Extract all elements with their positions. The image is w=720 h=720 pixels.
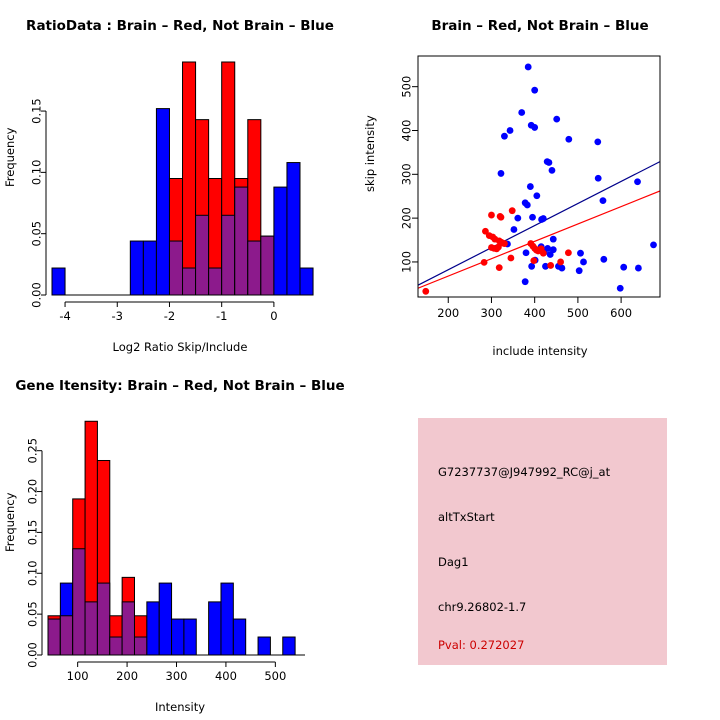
- y-tick-label: 0.05: [30, 221, 44, 247]
- scatter-point: [580, 259, 587, 266]
- y-tick-label: 0.00: [26, 642, 40, 668]
- x-tick-label: 500: [264, 669, 286, 683]
- scatter-point: [540, 250, 547, 257]
- scatter-point: [550, 236, 557, 243]
- histogram-bar-overlap: [73, 549, 85, 655]
- probe-id-text: G7237737@J947992_RC@j_at: [438, 465, 610, 479]
- scatter-point: [514, 215, 521, 222]
- histogram-bar-red: [183, 62, 196, 295]
- scatter-point: [559, 265, 566, 272]
- histogram-bar-blue: [221, 583, 233, 655]
- scatter-point: [511, 226, 518, 233]
- x-tick-label: 0: [270, 309, 277, 323]
- intensity-scatter-ylabel: skip intensity: [363, 172, 377, 192]
- regression-line: [418, 191, 660, 288]
- scatter-point: [507, 127, 514, 134]
- scatter-point: [527, 183, 534, 190]
- y-tick-label: 0.10: [30, 160, 44, 186]
- y-tick-label: 0.05: [26, 601, 40, 627]
- scatter-point: [595, 175, 602, 182]
- x-tick-label: 600: [610, 306, 632, 320]
- x-tick-label: 200: [437, 306, 459, 320]
- histogram-bar-blue: [147, 602, 159, 655]
- histogram-bar-overlap: [85, 602, 97, 655]
- scatter-point: [538, 216, 545, 223]
- y-tick-label: 100: [400, 251, 414, 273]
- histogram-bar-overlap: [122, 602, 134, 655]
- scatter-point: [617, 285, 624, 292]
- y-tick-label: 0.00: [30, 282, 44, 308]
- scatter-point: [498, 170, 505, 177]
- plot-frame: [418, 56, 660, 297]
- pval-text: Pval: 0.272027: [438, 638, 524, 652]
- scatter-point: [546, 159, 553, 166]
- scatter-point: [501, 133, 508, 140]
- scatter-point: [600, 197, 607, 204]
- scatter-point: [523, 249, 530, 256]
- scatter-point: [600, 256, 607, 263]
- scatter-point: [522, 278, 529, 285]
- scatter-point: [565, 136, 572, 143]
- scatter-point: [635, 265, 642, 272]
- histogram-bar-overlap: [48, 619, 60, 655]
- x-tick-label: 400: [215, 669, 237, 683]
- histogram-bar-overlap: [248, 241, 261, 295]
- histogram-bar-overlap: [196, 215, 209, 295]
- x-tick-label: -2: [164, 309, 175, 323]
- histogram-bar-blue: [130, 241, 143, 295]
- histogram-bar-blue: [287, 163, 300, 295]
- histogram-bar-overlap: [110, 637, 122, 655]
- info-box: G7237737@J947992_RC@j_at altTxStart Dag1…: [418, 418, 667, 665]
- scatter-point: [553, 116, 560, 123]
- ratio-histogram-ylabel: Frequency: [3, 167, 17, 187]
- gene-symbol-text: Dag1: [438, 555, 469, 569]
- scatter-point: [496, 264, 503, 271]
- scatter-point: [634, 178, 641, 185]
- scatter-point: [495, 244, 502, 251]
- y-tick-label: 500: [400, 76, 414, 98]
- intensity-scatter-panel: Brain – Red, Not Brain – Blue 1002003004…: [360, 0, 720, 360]
- scatter-point: [518, 109, 525, 116]
- gene-info-panel: G7237737@J947992_RC@j_at altTxStart Dag1…: [360, 360, 720, 720]
- intensity-scatter-xlabel: include intensity: [360, 344, 720, 358]
- histogram-bar-overlap: [261, 236, 274, 295]
- scatter-point: [524, 202, 531, 209]
- histogram-bar-overlap: [97, 583, 109, 655]
- scatter-point: [481, 259, 488, 266]
- scatter-point: [547, 251, 554, 258]
- histogram-bar-blue: [233, 619, 245, 655]
- scatter-point: [508, 255, 515, 262]
- scatter-point: [576, 267, 583, 274]
- scatter-point: [557, 259, 564, 266]
- locus-text: chr9.26802-1.7: [438, 600, 526, 614]
- histogram-bar-overlap: [235, 187, 248, 295]
- scatter-point: [530, 257, 537, 264]
- x-tick-label: -1: [216, 309, 227, 323]
- histogram-bar-blue: [159, 583, 171, 655]
- scatter-point: [549, 167, 556, 174]
- histogram-bar-overlap: [134, 637, 146, 655]
- gene-intensity-xlabel: Intensity: [0, 700, 360, 714]
- intensity-scatter-plot: 100200300400500200300400500600: [360, 0, 720, 360]
- y-tick-label: 0.25: [26, 438, 40, 464]
- scatter-point: [547, 262, 554, 269]
- x-tick-label: 400: [524, 306, 546, 320]
- histogram-bar-overlap: [209, 268, 222, 295]
- histogram-bar-overlap: [222, 215, 235, 295]
- scatter-point: [488, 212, 495, 219]
- y-tick-label: 200: [400, 207, 414, 229]
- scatter-point: [509, 207, 516, 214]
- histogram-bar-blue: [283, 637, 295, 655]
- scatter-point: [594, 138, 601, 145]
- gene-intensity-histogram-panel: Gene Itensity: Brain – Red, Not Brain – …: [0, 360, 360, 720]
- scatter-point: [533, 192, 540, 199]
- y-tick-label: 0.15: [30, 98, 44, 124]
- histogram-bar-blue: [52, 268, 65, 295]
- scatter-point: [565, 249, 572, 256]
- scatter-point: [650, 241, 657, 248]
- event-type-text: altTxStart: [438, 510, 495, 524]
- histogram-bar-blue: [143, 241, 156, 295]
- histogram-bar-blue: [156, 109, 169, 295]
- x-tick-label: 300: [480, 306, 502, 320]
- scatter-point: [529, 214, 536, 221]
- histogram-bar-blue: [209, 602, 221, 655]
- y-tick-label: 0.15: [26, 520, 40, 546]
- y-tick-label: 300: [400, 163, 414, 185]
- x-tick-label: 300: [166, 669, 188, 683]
- histogram-bar-overlap: [169, 241, 182, 295]
- histogram-bar-blue: [258, 637, 270, 655]
- x-tick-label: 500: [567, 306, 589, 320]
- scatter-point: [531, 124, 538, 131]
- ratio-histogram-panel: RatioData : Brain – Red, Not Brain – Blu…: [0, 0, 360, 360]
- ratio-histogram-xlabel: Log2 Ratio Skip/Include: [0, 340, 360, 354]
- y-tick-label: 0.10: [26, 560, 40, 586]
- gene-intensity-ylabel: Frequency: [3, 532, 17, 552]
- histogram-bar-blue: [184, 619, 196, 655]
- scatter-point: [525, 64, 532, 71]
- x-tick-label: 200: [116, 669, 138, 683]
- histogram-bar-blue: [300, 268, 313, 295]
- scatter-point: [422, 288, 429, 295]
- scatter-point: [498, 214, 505, 221]
- x-tick-label: -3: [112, 309, 123, 323]
- y-tick-label: 400: [400, 120, 414, 142]
- gene-intensity-histogram-plot: 0.000.050.100.150.200.25100200300400500: [0, 360, 360, 720]
- scatter-point: [501, 240, 508, 247]
- x-tick-label: 100: [67, 669, 89, 683]
- scatter-content: [418, 64, 660, 295]
- scatter-point: [620, 264, 627, 271]
- histogram-bar-blue: [172, 619, 184, 655]
- ratio-histogram-plot: 0.000.050.100.15-4-3-2-10: [0, 0, 360, 360]
- y-tick-label: 0.20: [26, 479, 40, 505]
- histogram-bar-overlap: [60, 616, 72, 655]
- x-tick-label: -4: [59, 309, 70, 323]
- scatter-point: [531, 87, 538, 94]
- histogram-bar-overlap: [183, 268, 196, 295]
- histogram-bar-blue: [274, 187, 287, 295]
- scatter-point: [577, 250, 584, 257]
